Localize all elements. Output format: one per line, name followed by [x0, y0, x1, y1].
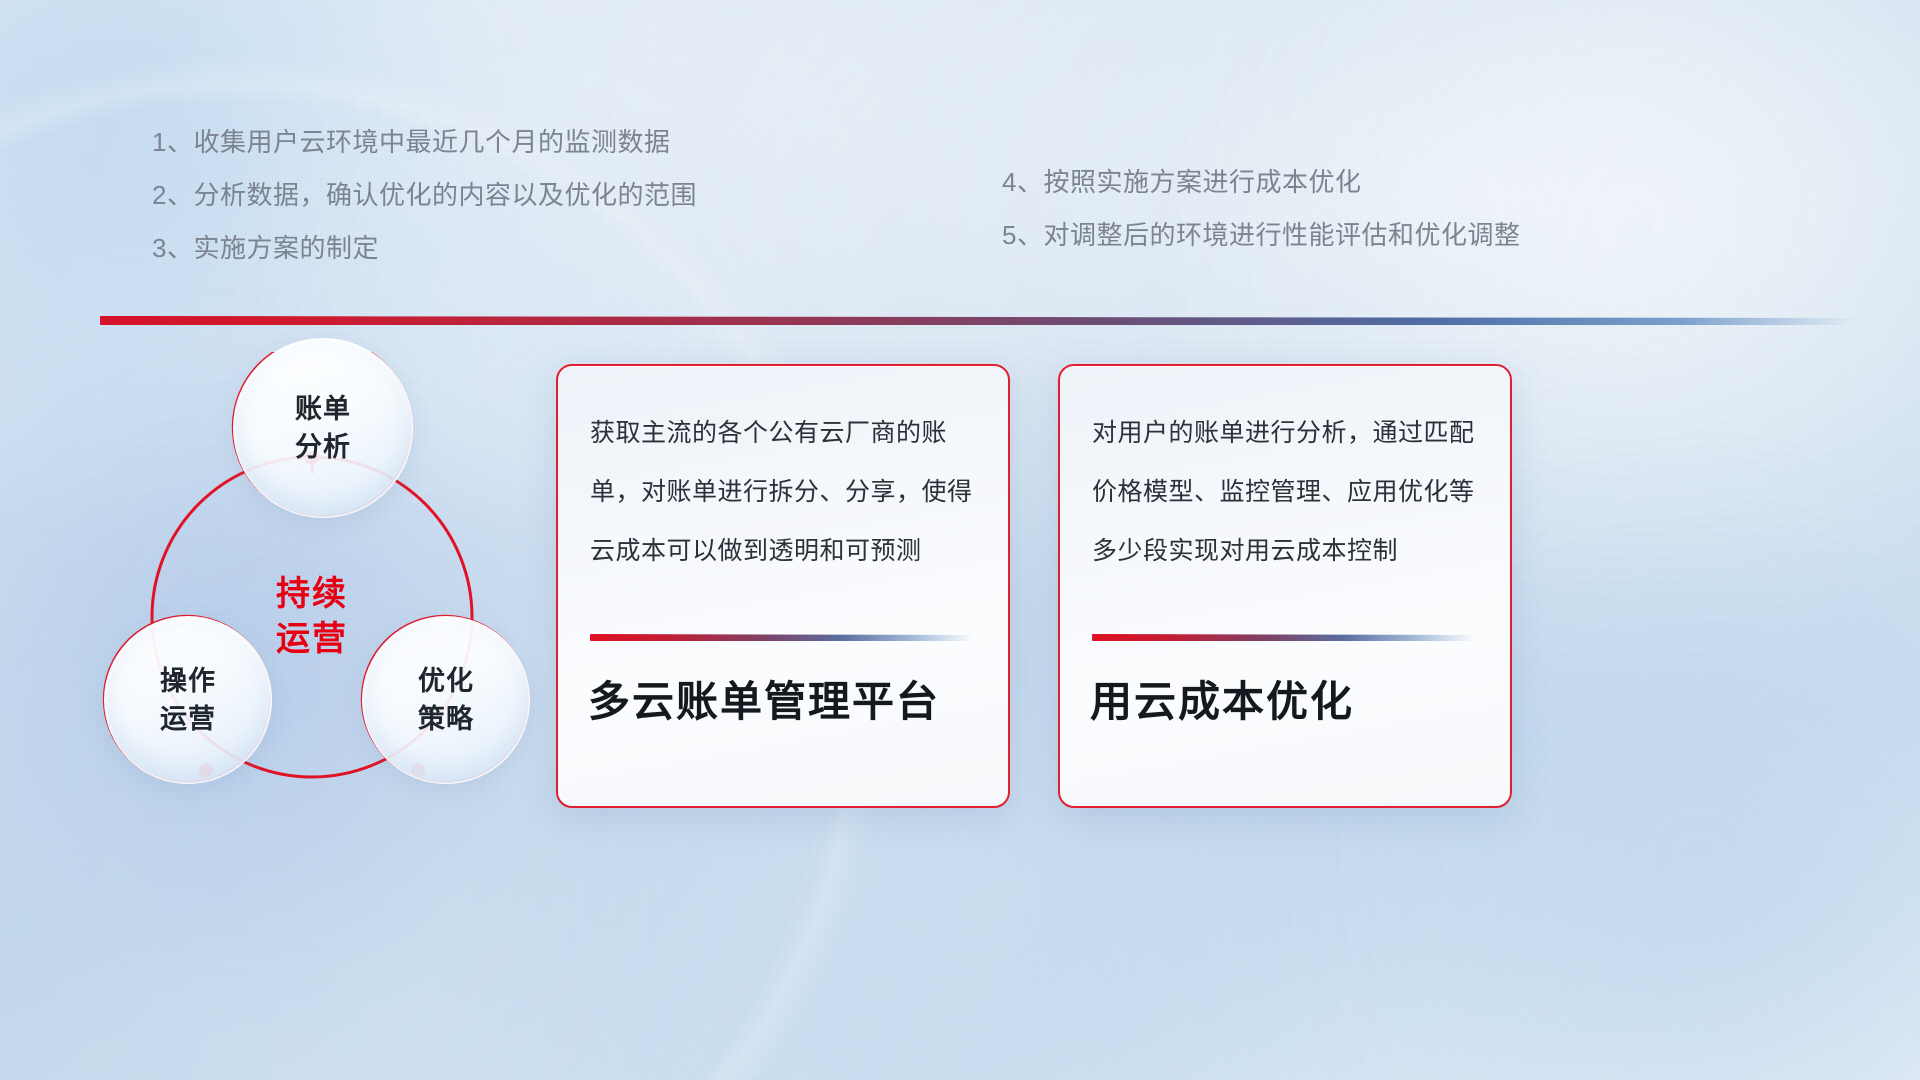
- card-multi-cloud-bill-platform[interactable]: 获取主流的各个公有云厂商的账单，对账单进行拆分、分享，使得云成本可以做到透明和可…: [556, 364, 1010, 808]
- venn-bubble-bill-analysis[interactable]: 账单 分析: [233, 338, 413, 518]
- divider-gradient-bar: [100, 316, 1856, 325]
- venn-bubble-label-line1: 优化: [418, 666, 474, 696]
- venn-bubble-label-line1: 账单: [295, 394, 351, 424]
- venn-bubble-label: 操作 运营: [160, 662, 216, 738]
- venn-bubble-label-line2: 分析: [295, 432, 351, 462]
- bullet-item: 5、对调整后的环境进行性能评估和优化调整: [1002, 209, 1520, 262]
- bullet-item: 2、分析数据，确认优化的内容以及优化的范围: [152, 169, 697, 222]
- venn-bubble-operation-ops[interactable]: 操作 运营: [104, 616, 272, 784]
- card-accent-bar: [590, 634, 972, 641]
- card-body-text: 获取主流的各个公有云厂商的账单，对账单进行拆分、分享，使得云成本可以做到透明和可…: [590, 404, 982, 581]
- bullet-list-right: 4、按照实施方案进行成本优化 5、对调整后的环境进行性能评估和优化调整: [1002, 156, 1520, 262]
- card-title: 多云账单管理平台: [588, 674, 988, 730]
- bullet-item: 3、实施方案的制定: [152, 222, 697, 275]
- venn-diagram: 账单 分析 操作 运营 优化 策略 持续 运营: [96, 352, 616, 952]
- venn-bubble-label-line1: 操作: [160, 666, 216, 696]
- card-accent-bar: [1092, 634, 1474, 641]
- bullet-list-left: 1、收集用户云环境中最近几个月的监测数据 2、分析数据，确认优化的内容以及优化的…: [152, 116, 697, 275]
- card-cloud-cost-optimization[interactable]: 对用户的账单进行分析，通过匹配价格模型、监控管理、应用优化等多少段实现对用云成本…: [1058, 364, 1512, 808]
- venn-bubble-label-line2: 运营: [160, 704, 216, 734]
- venn-bubble-optimize-strategy[interactable]: 优化 策略: [362, 616, 530, 784]
- card-body-text: 对用户的账单进行分析，通过匹配价格模型、监控管理、应用优化等多少段实现对用云成本…: [1092, 404, 1484, 581]
- section-divider: [100, 316, 1856, 325]
- card-title: 用云成本优化: [1090, 674, 1490, 730]
- venn-bubble-label: 优化 策略: [418, 662, 474, 738]
- venn-bubble-label-line2: 策略: [418, 704, 474, 734]
- bullet-item: 1、收集用户云环境中最近几个月的监测数据: [152, 116, 697, 169]
- bullet-item: 4、按照实施方案进行成本优化: [1002, 156, 1520, 209]
- bullet-lists: 1、收集用户云环境中最近几个月的监测数据 2、分析数据，确认优化的内容以及优化的…: [0, 0, 1920, 300]
- venn-bubble-label: 账单 分析: [295, 390, 351, 466]
